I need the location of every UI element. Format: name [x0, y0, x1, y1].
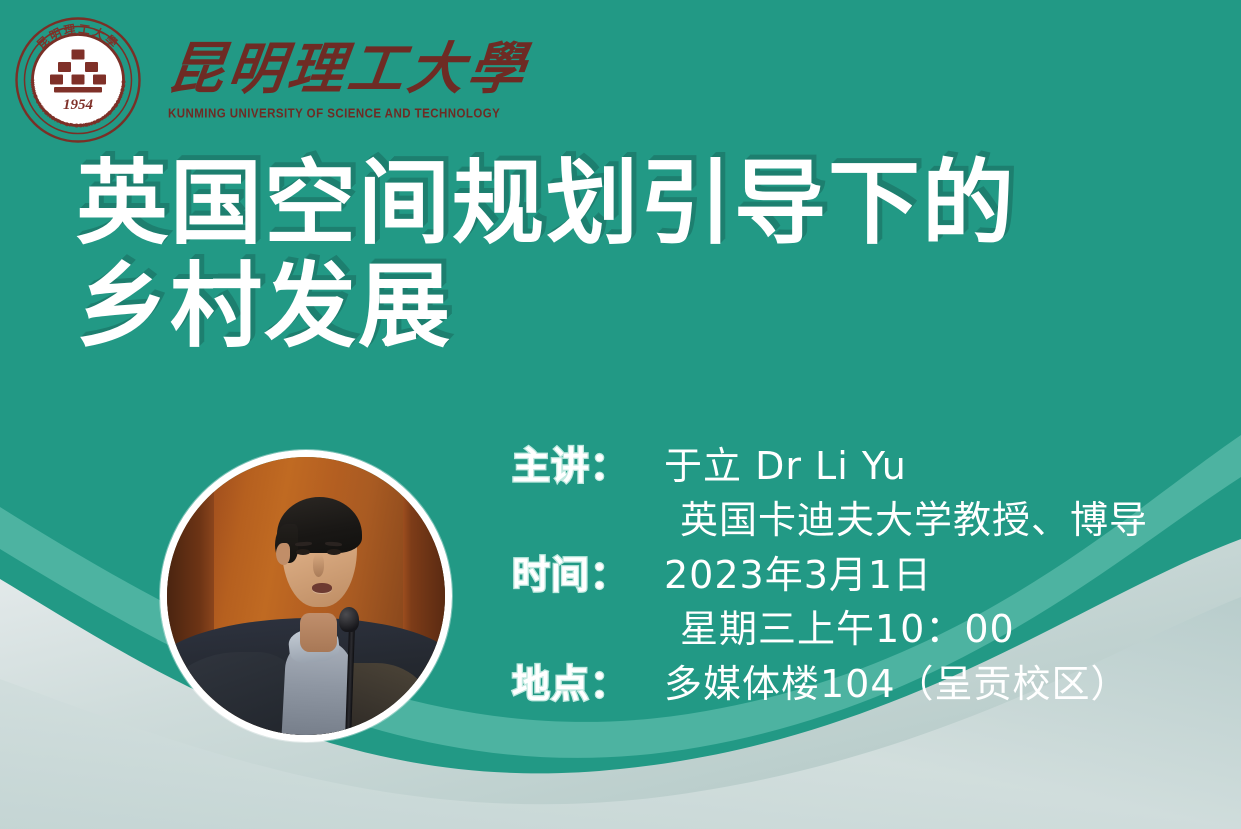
university-branding-header: 1954 昆明理工大學 KUNMING UNIVERSITY OF SCIENC…: [14, 12, 534, 148]
svg-text:1954: 1954: [63, 97, 94, 113]
photo-nose: [313, 554, 324, 576]
university-wordmark: 昆明理工大學 KUNMING UNIVERSITY OF SCIENCE AND…: [168, 42, 518, 119]
photo-mouth: [312, 583, 333, 593]
speaker-affiliation: 英国卡迪夫大学教授、博导: [512, 494, 1212, 546]
place-row: 地点： 多媒体楼104（呈贡校区）: [512, 658, 1212, 710]
kust-emblem-icon: 1954 昆明理工大學 KUNMING UNIVERSITY OF SCIENC…: [14, 16, 142, 144]
speaker-portrait-photo: [167, 457, 445, 735]
page-title-line-2: 乡村发展: [76, 255, 1216, 358]
time-label: 时间：: [512, 549, 664, 601]
speaker-portrait: [160, 450, 452, 742]
photo-eye-right: [327, 549, 341, 555]
page-title: 英国空间规划引导下的 乡村发展: [76, 152, 1216, 358]
photo-microphone-head: [339, 607, 358, 632]
time-date: 2023年3月1日: [664, 549, 932, 601]
wordmark-english: KUNMING UNIVERSITY OF SCIENCE AND TECHNO…: [168, 107, 518, 121]
place-value: 多媒体楼104（呈贡校区）: [664, 658, 1130, 710]
photo-eye-left: [296, 549, 310, 555]
photo-neck: [300, 613, 336, 652]
lecture-poster: 1954 昆明理工大學 KUNMING UNIVERSITY OF SCIENC…: [0, 0, 1241, 829]
page-title-line-1: 英国空间规划引导下的: [76, 152, 1216, 255]
speaker-name: 于立 Dr Li Yu: [664, 440, 907, 492]
photo-ear: [276, 543, 290, 565]
place-label: 地点：: [512, 658, 664, 710]
speaker-label: 主讲：: [512, 440, 664, 492]
time-row: 时间： 2023年3月1日: [512, 549, 1212, 601]
speaker-row: 主讲： 于立 Dr Li Yu: [512, 440, 1212, 492]
event-details: 主讲： 于立 Dr Li Yu 英国卡迪夫大学教授、博导 时间： 2023年3月…: [512, 440, 1212, 712]
time-detail: 星期三上午10：00: [512, 603, 1212, 655]
wordmark-chinese: 昆明理工大學: [165, 42, 522, 98]
